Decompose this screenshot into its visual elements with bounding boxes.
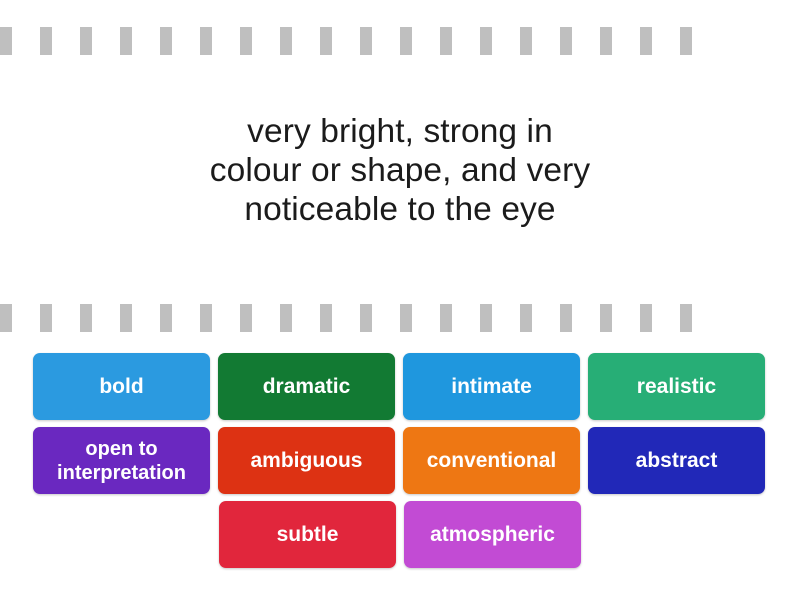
divider-dash xyxy=(640,27,652,55)
divider-dash xyxy=(80,304,92,332)
answer-tile-subtle[interactable]: subtle xyxy=(219,501,396,568)
divider-dash xyxy=(320,27,332,55)
answer-tile-label: dramatic xyxy=(263,374,351,399)
divider-dash xyxy=(240,27,252,55)
divider-dash xyxy=(600,27,612,55)
divider-dash xyxy=(240,304,252,332)
divider-dash xyxy=(320,304,332,332)
answer-tile-label-line: interpretation xyxy=(57,461,186,485)
answer-tile-label: subtle xyxy=(277,522,339,547)
divider-dash xyxy=(40,304,52,332)
prompt-text: very bright, strong incolour or shape, a… xyxy=(60,112,740,229)
answer-tile-label-line: atmospheric xyxy=(430,522,555,547)
divider-dash xyxy=(480,27,492,55)
answer-tile-label: bold xyxy=(99,374,143,399)
divider-dash xyxy=(440,27,452,55)
answer-tile-label-line: intimate xyxy=(451,374,532,399)
divider-dash xyxy=(280,27,292,55)
divider-dash xyxy=(480,304,492,332)
divider-dash xyxy=(560,27,572,55)
divider-dash xyxy=(640,304,652,332)
divider-dash xyxy=(200,27,212,55)
answer-tile-ambiguous[interactable]: ambiguous xyxy=(218,427,395,494)
answer-tile-label: conventional xyxy=(427,448,557,473)
divider-dash xyxy=(80,27,92,55)
divider-dash xyxy=(520,27,532,55)
divider-dash xyxy=(0,27,12,55)
answer-tile-label-line: abstract xyxy=(636,448,718,473)
divider-dash xyxy=(200,304,212,332)
answer-tile-label-line: open to xyxy=(57,437,186,461)
divider-dash xyxy=(400,27,412,55)
answer-tile-intimate[interactable]: intimate xyxy=(403,353,580,420)
divider-dash xyxy=(160,27,172,55)
answer-tile-dramatic[interactable]: dramatic xyxy=(218,353,395,420)
answer-tile-abstract[interactable]: abstract xyxy=(588,427,765,494)
divider-dash xyxy=(680,27,692,55)
answer-tile-label: abstract xyxy=(636,448,718,473)
divider-dash xyxy=(120,304,132,332)
divider-dash xyxy=(400,304,412,332)
answer-tile-label: open tointerpretation xyxy=(57,437,186,485)
answer-tile-label: ambiguous xyxy=(250,448,362,473)
answer-tile-bold[interactable]: bold xyxy=(33,353,210,420)
answer-tile-label-line: ambiguous xyxy=(250,448,362,473)
prompt-line: very bright, strong in xyxy=(60,112,740,151)
answer-tile-atmospheric[interactable]: atmospheric xyxy=(404,501,581,568)
divider-dash xyxy=(280,304,292,332)
answer-tile-label: atmospheric xyxy=(430,522,555,547)
answer-tile-open-to-interpretation[interactable]: open tointerpretation xyxy=(33,427,210,494)
divider-dash xyxy=(160,304,172,332)
divider-dash xyxy=(560,304,572,332)
answer-tile-label-line: bold xyxy=(99,374,143,399)
answer-tile-label-line: conventional xyxy=(427,448,557,473)
divider-dash xyxy=(680,304,692,332)
answer-tile-label: realistic xyxy=(637,374,716,399)
answer-tile-label-line: subtle xyxy=(277,522,339,547)
divider-dash xyxy=(0,304,12,332)
answer-tile-label-line: dramatic xyxy=(263,374,351,399)
prompt-line: noticeable to the eye xyxy=(60,190,740,229)
answer-tile-row-3: subtleatmospheric xyxy=(33,501,767,568)
answer-tile-conventional[interactable]: conventional xyxy=(403,427,580,494)
prompt-line: colour or shape, and very xyxy=(60,151,740,190)
quiz-stage: very bright, strong incolour or shape, a… xyxy=(0,0,800,600)
answer-tile-label: intimate xyxy=(451,374,532,399)
answer-tile-realistic[interactable]: realistic xyxy=(588,353,765,420)
divider-dash xyxy=(600,304,612,332)
divider-dash xyxy=(520,304,532,332)
dashed-line-divider-middle xyxy=(0,304,800,332)
dashed-line-divider-top xyxy=(0,27,800,55)
divider-dash xyxy=(120,27,132,55)
answer-tile-row-2: open tointerpretationambiguousconvention… xyxy=(33,427,767,494)
answer-tile-row-1: bolddramaticintimaterealistic xyxy=(33,353,767,420)
divider-dash xyxy=(360,27,372,55)
divider-dash xyxy=(440,304,452,332)
divider-dash xyxy=(40,27,52,55)
answer-tile-label-line: realistic xyxy=(637,374,716,399)
divider-dash xyxy=(360,304,372,332)
